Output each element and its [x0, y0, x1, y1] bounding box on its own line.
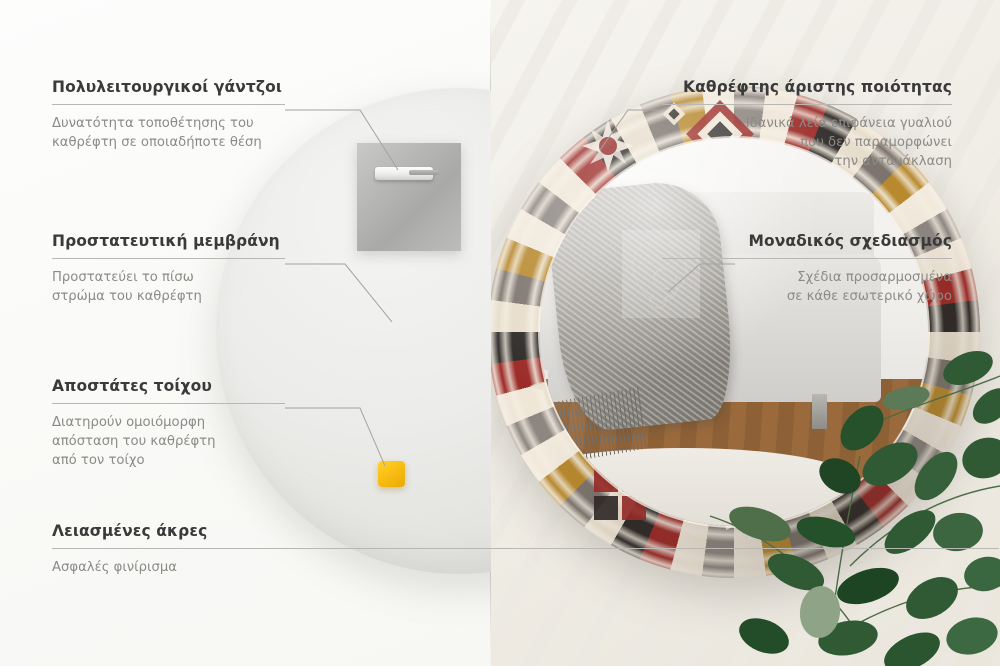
callout-design-rule — [662, 258, 952, 259]
callout-hooks: Πολυλειτουργικοί γάντζοι Δυνατότητα τοπο… — [52, 78, 285, 152]
callout-wall-spacers: Αποστάτες τοίχου Διατηρούν ομοιόμορφη απ… — [52, 377, 285, 470]
callout-smoothed-edges: Λειασμένες άκρες Ασφαλές φινίρισμα — [52, 522, 285, 577]
callout-edges-rule — [52, 548, 999, 549]
callout-hooks-desc: Δυνατότητα τοποθέτησης του καθρέφτη σε ο… — [52, 114, 285, 152]
callout-spacers-desc: Διατηρούν ομοιόμορφη απόσταση του καθρέφ… — [52, 413, 285, 470]
infographic-canvas: Πολυλειτουργικοί γάντζοι Δυνατότητα τοπο… — [0, 0, 1000, 666]
callout-edges-desc: Ασφαλές φινίρισμα — [52, 558, 285, 577]
callout-membrane-title: Προστατευτική μεμβράνη — [52, 232, 285, 251]
callout-membrane-rule — [52, 258, 285, 259]
callout-edges-title: Λειασμένες άκρες — [52, 522, 285, 541]
hanging-hook-icon — [375, 167, 433, 180]
callout-hooks-title: Πολυλειτουργικοί γάντζοι — [52, 78, 285, 97]
callout-unique-design: Μοναδικός σχεδιασμός Σχέδια προσαρμοσμέν… — [662, 232, 952, 306]
callout-design-title: Μοναδικός σχεδιασμός — [662, 232, 952, 251]
eucalyptus-foliage — [700, 336, 1000, 666]
callout-spacers-title: Αποστάτες τοίχου — [52, 377, 285, 396]
hook-detail-swatch — [357, 143, 461, 251]
callout-quality-rule — [662, 104, 952, 105]
callout-membrane-desc: Προστατεύει το πίσω στρώμα του καθρέφτη — [52, 268, 285, 306]
callout-spacers-rule — [52, 403, 285, 404]
callout-quality-title: Καθρέφτης άριστης ποιότητας — [662, 78, 952, 97]
callout-protective-membrane: Προστατευτική μεμβράνη Προστατεύει το πί… — [52, 232, 285, 306]
callout-hooks-rule — [52, 104, 285, 105]
callout-top-quality-mirror: Καθρέφτης άριστης ποιότητας Ιδανικά λεία… — [662, 78, 952, 171]
callout-design-desc: Σχέδια προσαρμοσμένα σε κάθε εσωτερικό χ… — [662, 268, 952, 306]
wall-spacer-chip — [378, 461, 405, 487]
callout-quality-desc: Ιδανικά λεία επιφάνεια γυαλιού που δεν π… — [662, 114, 952, 171]
